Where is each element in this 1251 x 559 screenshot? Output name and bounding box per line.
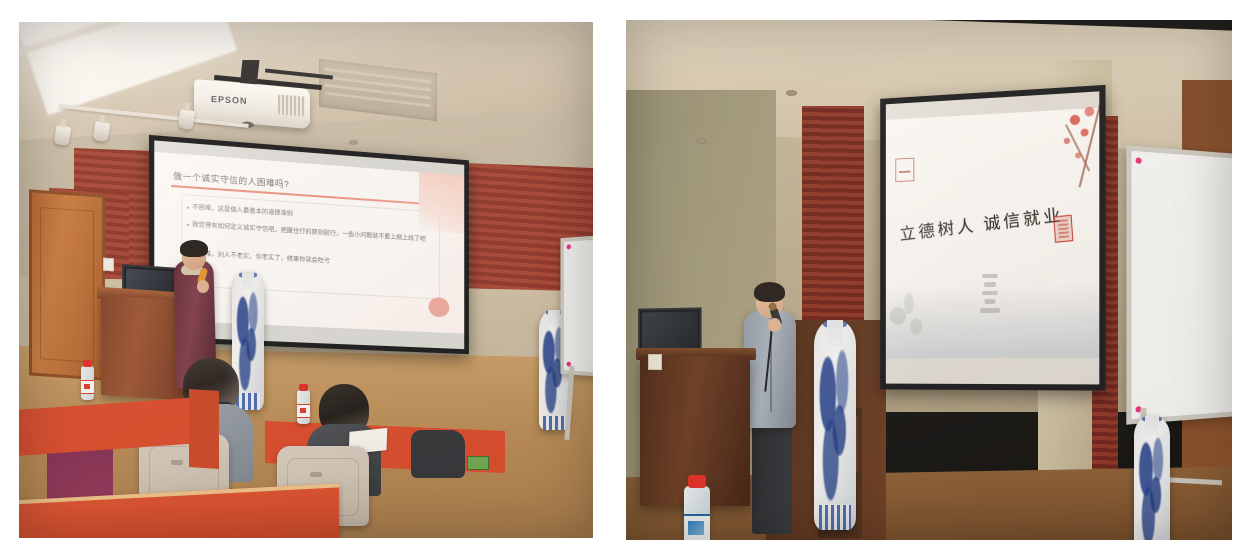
- light-switch[interactable]: [648, 354, 662, 370]
- lecture-desk-side: [189, 389, 219, 469]
- spotlight-icon: [178, 109, 195, 130]
- water-bottle: [297, 390, 310, 424]
- water-bottle: [684, 486, 710, 540]
- photo-left: EPSON 做一个诚实守信的人困难吗? 不困难，这是做人最基本的道德准则 我觉得…: [19, 22, 593, 538]
- speaker-hair: [754, 282, 785, 302]
- projector-grille: [278, 94, 305, 116]
- speaker-hand: [768, 318, 781, 332]
- door[interactable]: [29, 189, 105, 380]
- speaker-hand: [197, 280, 209, 293]
- photo-right: 立德树人 诚信就业: [626, 20, 1232, 540]
- projection-screen: 立德树人 诚信就业: [880, 85, 1105, 391]
- magnet-icon: [567, 244, 571, 249]
- green-box-object: [467, 456, 489, 470]
- projector-brand-label: EPSON: [211, 94, 248, 106]
- water-bottle: [81, 366, 94, 400]
- whiteboard[interactable]: [1126, 145, 1232, 424]
- speaker-legs: [752, 422, 792, 534]
- porcelain-vase: [1134, 416, 1170, 540]
- photo-pair-sheet: EPSON 做一个诚实守信的人困难吗? 不困难，这是做人最基本的道德准则 我觉得…: [0, 0, 1251, 559]
- magnet-icon: [1136, 157, 1142, 164]
- light-switch[interactable]: [103, 258, 114, 272]
- downlight-icon: [786, 90, 797, 96]
- downlight-icon: [696, 138, 707, 144]
- speaker-hair: [180, 240, 208, 257]
- downlight-icon: [349, 140, 358, 145]
- backpack: [411, 430, 465, 478]
- projection-screen-surface: 立德树人 诚信就业: [886, 91, 1099, 384]
- porcelain-vase: [814, 320, 856, 530]
- screen-glare: [886, 91, 1099, 384]
- whiteboard[interactable]: [560, 234, 593, 379]
